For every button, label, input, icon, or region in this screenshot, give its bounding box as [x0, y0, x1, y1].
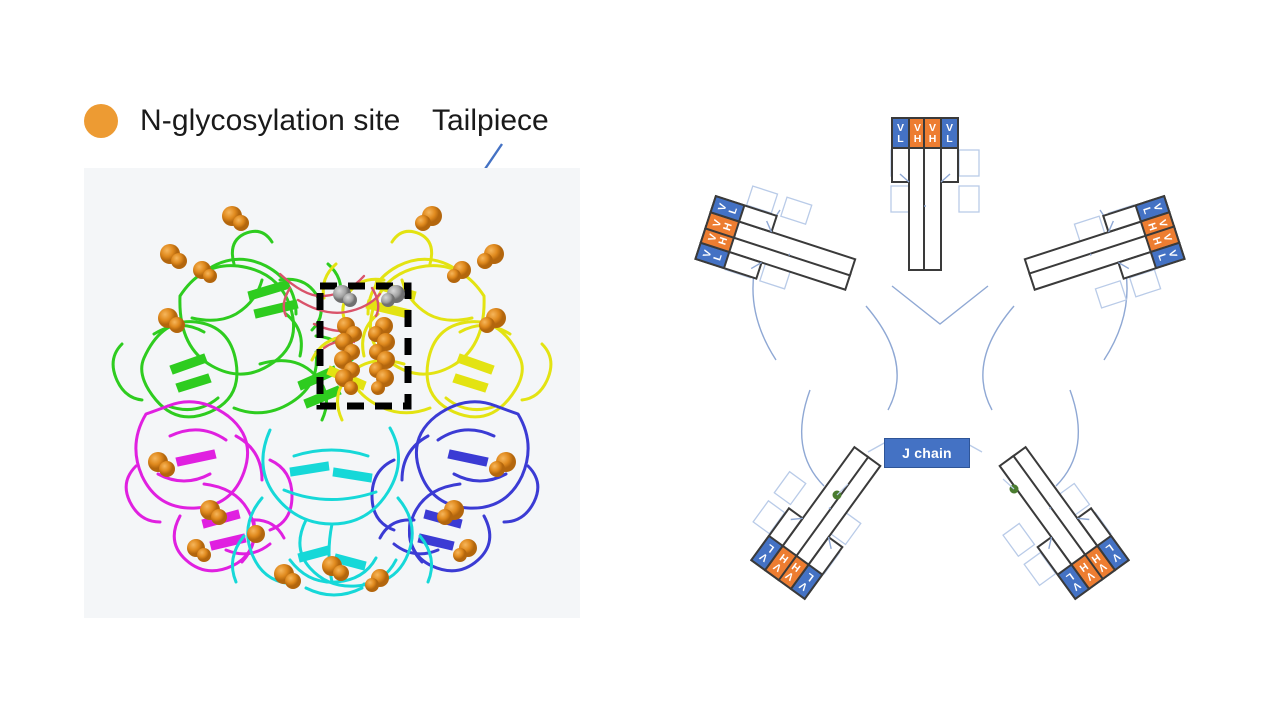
jchain-label: J chain: [902, 445, 952, 461]
n-glycosylation-marker-icon: [84, 104, 118, 138]
jchain-label-box: J chain: [884, 438, 970, 468]
svg-text:H: H: [929, 133, 937, 145]
svg-text:H: H: [914, 133, 922, 145]
legend-label: N-glycosylation site: [140, 104, 400, 138]
svg-text:L: L: [946, 133, 953, 145]
lower-right-arm: [969, 437, 1130, 612]
igm-figure: N-glycosylation site Tailpiece: [0, 0, 1280, 720]
upper-right-arm: [1019, 195, 1191, 326]
svg-text:L: L: [897, 133, 904, 145]
legend: N-glycosylation site: [84, 104, 400, 138]
igm-schematic: VL VH VH VL VL VH VH VL VL VH VH VL: [630, 90, 1250, 650]
tailpiece-label: Tailpiece: [432, 104, 549, 138]
igm-structure-panel: [84, 168, 580, 618]
